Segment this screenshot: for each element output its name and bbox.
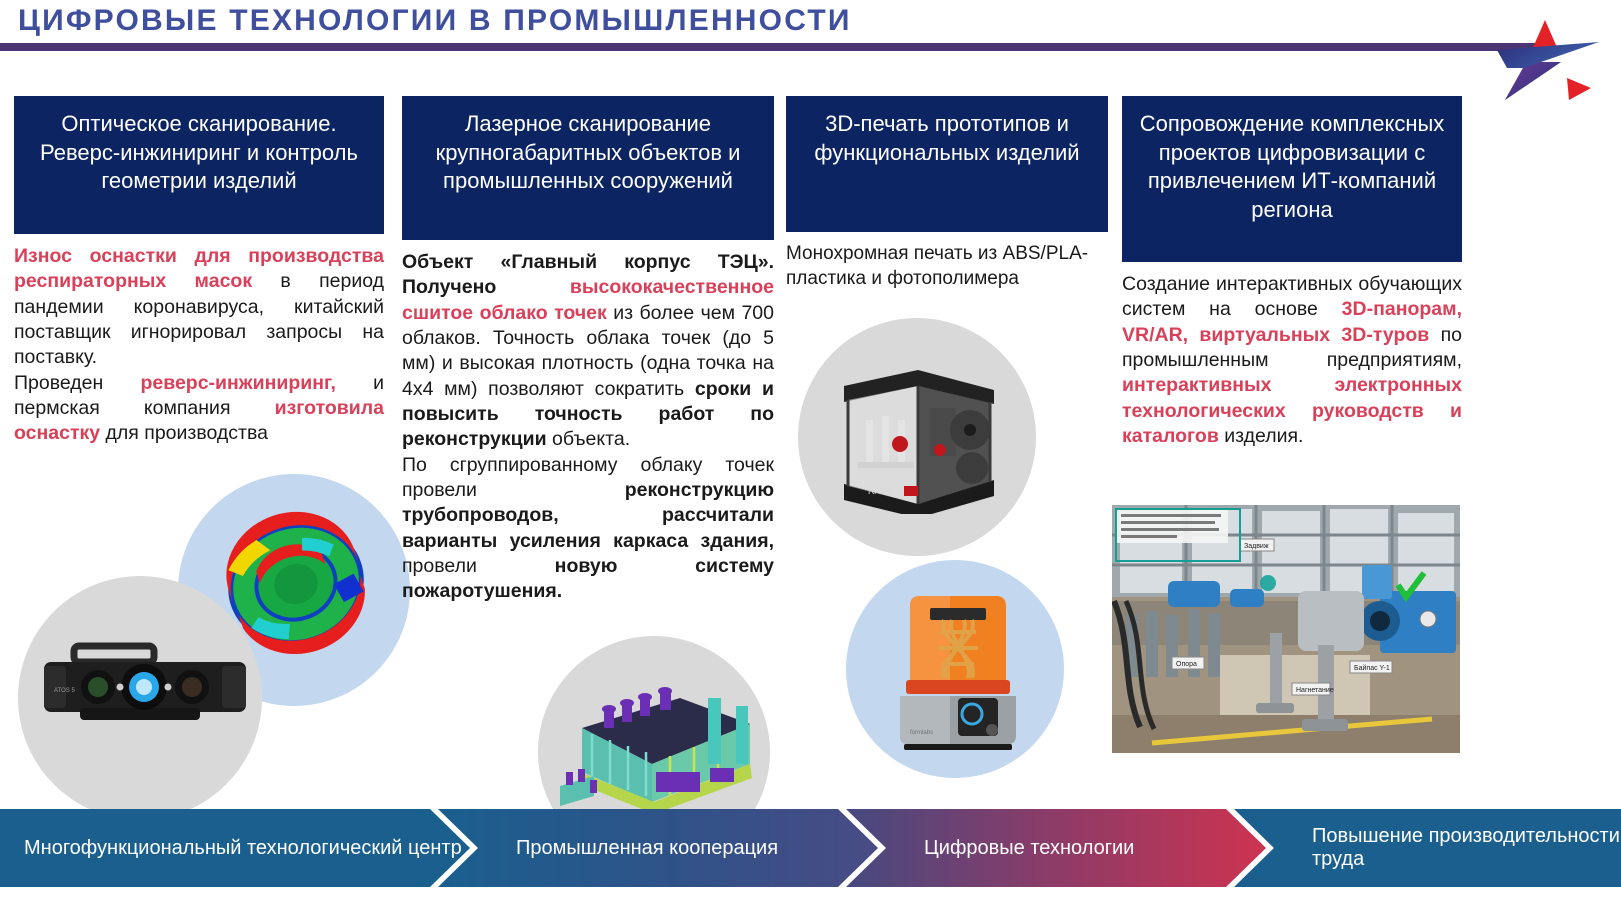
column-3-body: Монохромная печать из ABS/PLA-пластика и… — [786, 242, 1108, 291]
page-title: ЦИФРОВЫЕ ТЕХНОЛОГИИ В ПРОМЫШЛЕННОСТИ — [18, 4, 852, 38]
col1-run-3: реверс-инжиниринг, — [140, 372, 373, 394]
col2-run-4: объекта. — [552, 428, 630, 450]
svg-text:Опора: Опора — [1176, 661, 1197, 668]
star-logo — [1483, 2, 1603, 106]
svg-text:Байпас Y-1: Байпас Y-1 — [1354, 664, 1390, 672]
column-3d-printing: 3D-печать прототипов и функциональных из… — [786, 96, 1108, 291]
column-4-heading: Сопровождение комплексных проектов цифро… — [1122, 96, 1462, 262]
chevron-step-3[interactable]: Цифровые технологии — [846, 809, 1266, 887]
fdm-printer-photo: RAISE — [838, 368, 998, 514]
point-cloud-building-model — [560, 668, 756, 814]
column-1-body: Износ оснастки для производства респират… — [14, 244, 384, 447]
svg-text:RAISE: RAISE — [868, 486, 895, 496]
column-3-heading: 3D-печать прототипов и функциональных из… — [786, 96, 1108, 232]
industrial-hall-panorama-photo: Задвиж Опора Байпас Y-1 Нагнетание — [1112, 505, 1460, 753]
title-divider — [0, 43, 1545, 51]
column-optical-scanning: Оптическое сканирование. Реверс-инжинири… — [14, 96, 384, 447]
column-2-body: Объект «Главный корпус ТЭЦ». Получено вы… — [402, 250, 774, 605]
process-chevron-bar: Многофункциональный технологический цент… — [0, 809, 1621, 887]
col4-run-4: изделия. — [1224, 425, 1303, 447]
col1-run-2: Проведен — [14, 372, 140, 394]
sla-printer-photo: formlabs — [896, 592, 1020, 752]
chevron-step-4[interactable]: Повышение производительности труда — [1234, 809, 1621, 887]
svg-text:ATOS 5: ATOS 5 — [54, 688, 75, 694]
column-digitalization-support: Сопровождение комплексных проектов цифро… — [1122, 96, 1462, 449]
column-laser-scanning: Лазерное сканирование крупногабаритных о… — [402, 96, 774, 605]
chevron-step-1[interactable]: Многофункциональный технологический цент… — [0, 809, 470, 887]
svg-text:Нагнетание: Нагнетание — [1296, 687, 1334, 694]
chevron-step-1-label: Многофункциональный технологический цент… — [0, 837, 462, 860]
chevron-step-4-label: Повышение производительности труда — [1234, 825, 1621, 871]
3d-scanner-photo: ATOS 5 — [40, 642, 250, 732]
svg-text:formlabs: formlabs — [910, 730, 933, 736]
col1-run-6: для производства — [106, 422, 268, 444]
chevron-step-2-label: Промышленная кооперация — [438, 837, 778, 860]
column-2-heading: Лазерное сканирование крупногабаритных о… — [402, 96, 774, 240]
column-1-heading: Оптическое сканирование. Реверс-инжинири… — [14, 96, 384, 234]
column-4-body: Создание интерактивных обучающих систем … — [1122, 272, 1462, 449]
col2-run-8: провели — [402, 555, 555, 577]
chevron-step-3-label: Цифровые технологии — [846, 837, 1134, 860]
svg-text:Задвиж: Задвиж — [1244, 543, 1269, 550]
chevron-step-2[interactable]: Промышленная кооперация — [438, 809, 878, 887]
